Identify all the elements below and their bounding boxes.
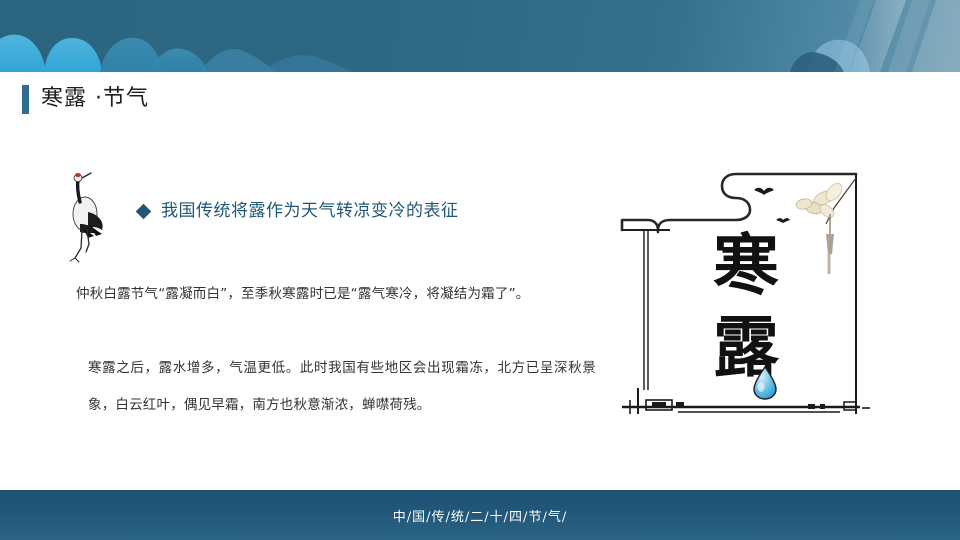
banner-decoration-icon xyxy=(0,0,960,72)
section-heading: 我国传统将露作为天气转凉变冷的表征 xyxy=(138,203,459,220)
calligraphy-char-han: 寒 xyxy=(700,224,792,306)
title-text: 寒露 ·节气 xyxy=(41,88,149,110)
diamond-icon xyxy=(136,204,152,220)
body-paragraph-1: 仲秋白露节气“露凝而白”，至季秋寒露时已是“露气寒冷，将凝结为霜了”。 xyxy=(76,283,576,305)
header-banner xyxy=(0,0,960,72)
body-paragraph-2: 寒露之后，露水增多，气温更低。此时我国有些地区会出现霜冻，北方已呈深秋景象，白云… xyxy=(88,350,596,424)
calligraphy-char-lu: 露 xyxy=(700,306,792,388)
calligraphy-group: 寒 露 xyxy=(700,224,792,398)
water-droplet-icon xyxy=(752,366,778,400)
red-crowned-crane-icon xyxy=(58,168,110,264)
title-accent-bar xyxy=(22,85,29,114)
page-title: 寒露 ·节气 xyxy=(22,83,149,115)
section-heading-text: 我国传统将露作为天气转凉变冷的表征 xyxy=(161,203,459,220)
footer-text: 中/国/传/统/二/十/四/节/气/ xyxy=(0,506,960,525)
slide-canvas: 寒露 ·节气 我国传统将露作为天气转凉变冷的表征 xyxy=(0,0,960,540)
